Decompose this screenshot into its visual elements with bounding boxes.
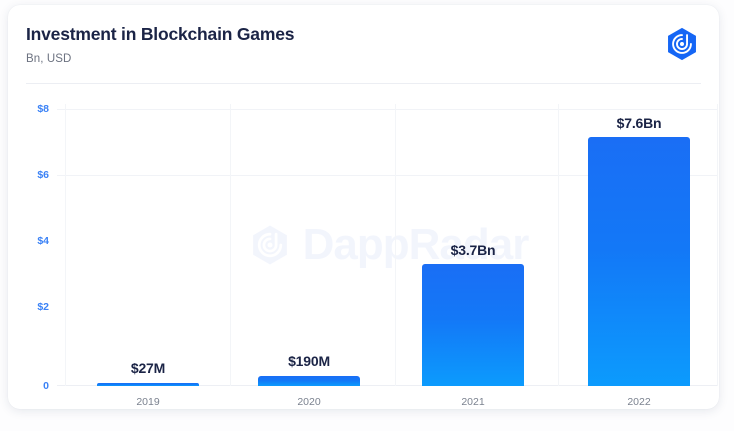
- card-header: Investment in Blockchain Games Bn, USD: [8, 5, 719, 83]
- screenshot-root: Investment in Blockchain Games Bn, USD $…: [0, 0, 734, 431]
- bar-2020[interactable]: [258, 376, 360, 386]
- x-axis: 2019 2020 2021 2022: [57, 388, 718, 409]
- bar-2019[interactable]: [97, 383, 199, 386]
- plot-area: DappRadar $27M $190M $3.7Bn $7.6Bn: [57, 104, 718, 386]
- y-axis-tick-6: $6: [37, 169, 49, 181]
- x-axis-label-2019: 2019: [136, 396, 159, 408]
- chart-card: Investment in Blockchain Games Bn, USD $…: [8, 5, 719, 409]
- header-divider: [26, 83, 701, 84]
- y-axis-tick-0: 0: [43, 380, 49, 392]
- x-axis-label-2022: 2022: [627, 396, 650, 408]
- bar-2021[interactable]: [422, 264, 524, 386]
- gridline-v-1: [230, 104, 231, 386]
- data-label-2022: $7.6Bn: [617, 115, 662, 131]
- x-axis-label-2020: 2020: [297, 396, 320, 408]
- data-label-2019: $27M: [131, 360, 165, 376]
- chart-subtitle: Bn, USD: [26, 53, 71, 65]
- y-axis-tick-2: $2: [37, 301, 49, 313]
- gridline-v-3: [558, 104, 559, 386]
- y-axis-tick-8: $8: [37, 103, 49, 115]
- gridline-v-4: [717, 104, 718, 386]
- data-label-2020: $190M: [288, 353, 330, 369]
- bar-2022[interactable]: [588, 137, 690, 386]
- gridline-v-0: [65, 104, 66, 386]
- x-axis-label-2021: 2021: [461, 396, 484, 408]
- data-label-2021: $3.7Bn: [451, 242, 496, 258]
- dappradar-hexagon-logo-icon: [663, 25, 701, 63]
- y-axis-tick-4: $4: [37, 235, 49, 247]
- gridline-h-8: [57, 109, 718, 110]
- page-title: Investment in Blockchain Games: [26, 24, 294, 45]
- y-axis: $8 $6 $4 $2 0: [8, 104, 57, 386]
- dappradar-hexagon-watermark-icon: [247, 222, 293, 268]
- gridline-v-2: [395, 104, 396, 386]
